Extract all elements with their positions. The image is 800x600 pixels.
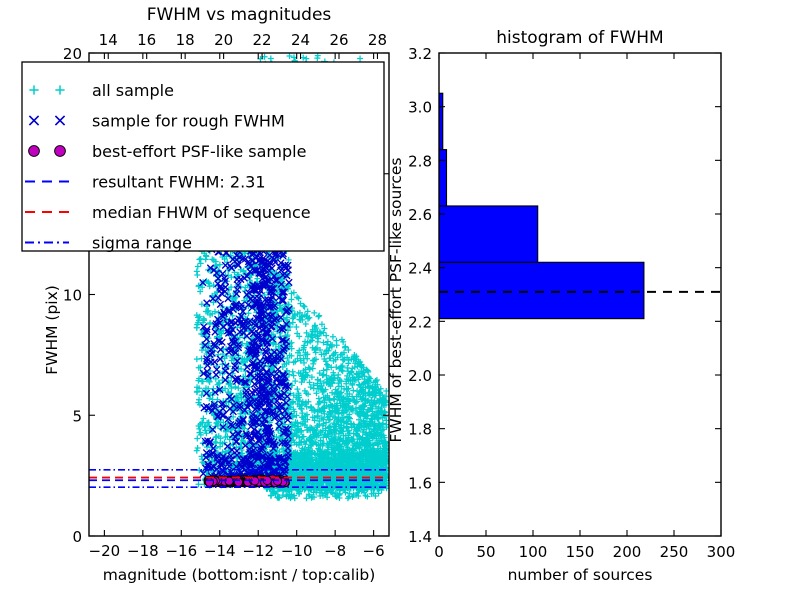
plot-svg: −20−18−16−14−12−10−8−6141618202224262805… bbox=[0, 0, 800, 600]
figure-canvas: −20−18−16−14−12−10−8−6141618202224262805… bbox=[0, 0, 800, 600]
